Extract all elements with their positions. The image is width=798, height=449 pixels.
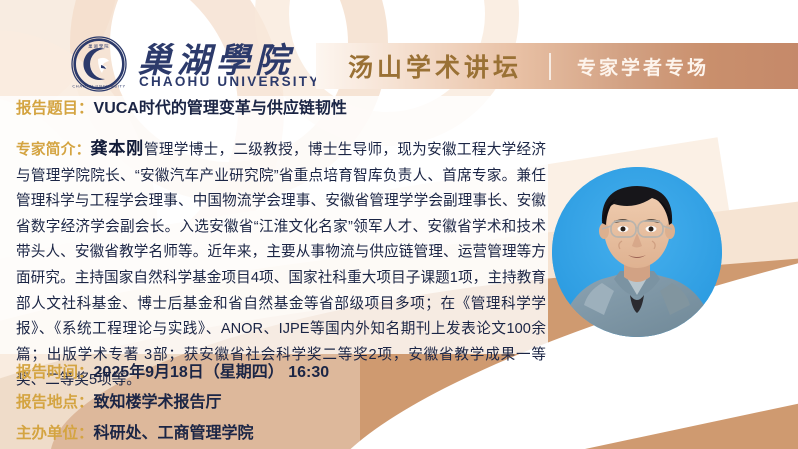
report-place-value: 致知楼学术报告厅 — [94, 394, 222, 411]
report-host-row: 主办单位：科研处、工商管理学院 — [16, 419, 254, 443]
report-place-row: 报告地点：致知楼学术报告厅 — [16, 388, 222, 412]
speaker-bio-label: 专家简介： — [16, 142, 91, 158]
report-place-label: 报告地点： — [16, 394, 94, 411]
speaker-portrait-photo — [552, 167, 722, 337]
speaker-bio-block: 专家简介：龚本刚管理学博士，二级教授，博士生导师，现为安徽工程大学经济与管理学院… — [16, 136, 546, 394]
speaker-bio-text: 管理学博士，二级教授，博士生导师，现为安徽工程大学经济与管理学院院长、“安徽汽车… — [16, 142, 546, 388]
report-host-label: 主办单位： — [16, 425, 94, 442]
report-host-value: 科研处、工商管理学院 — [94, 425, 254, 442]
seminar-poster: 巢湖學院 CHAOHU UNIVERSITY 巢湖學院 CHAOHU UNIVE… — [0, 0, 798, 449]
report-time-row: 报告时间：2025年9月18日（星期四） 16:30 — [16, 358, 329, 382]
report-time-label: 报告时间： — [16, 364, 94, 381]
report-title-row: 报告题目：VUCA时代的管理变革与供应链韧性 — [16, 98, 347, 120]
speaker-name: 龚本刚 — [91, 139, 144, 158]
report-time-value: 2025年9月18日（星期四） 16:30 — [94, 364, 330, 381]
report-title-value: VUCA时代的管理变革与供应链韧性 — [94, 100, 347, 117]
report-title-label: 报告题目： — [16, 100, 94, 117]
